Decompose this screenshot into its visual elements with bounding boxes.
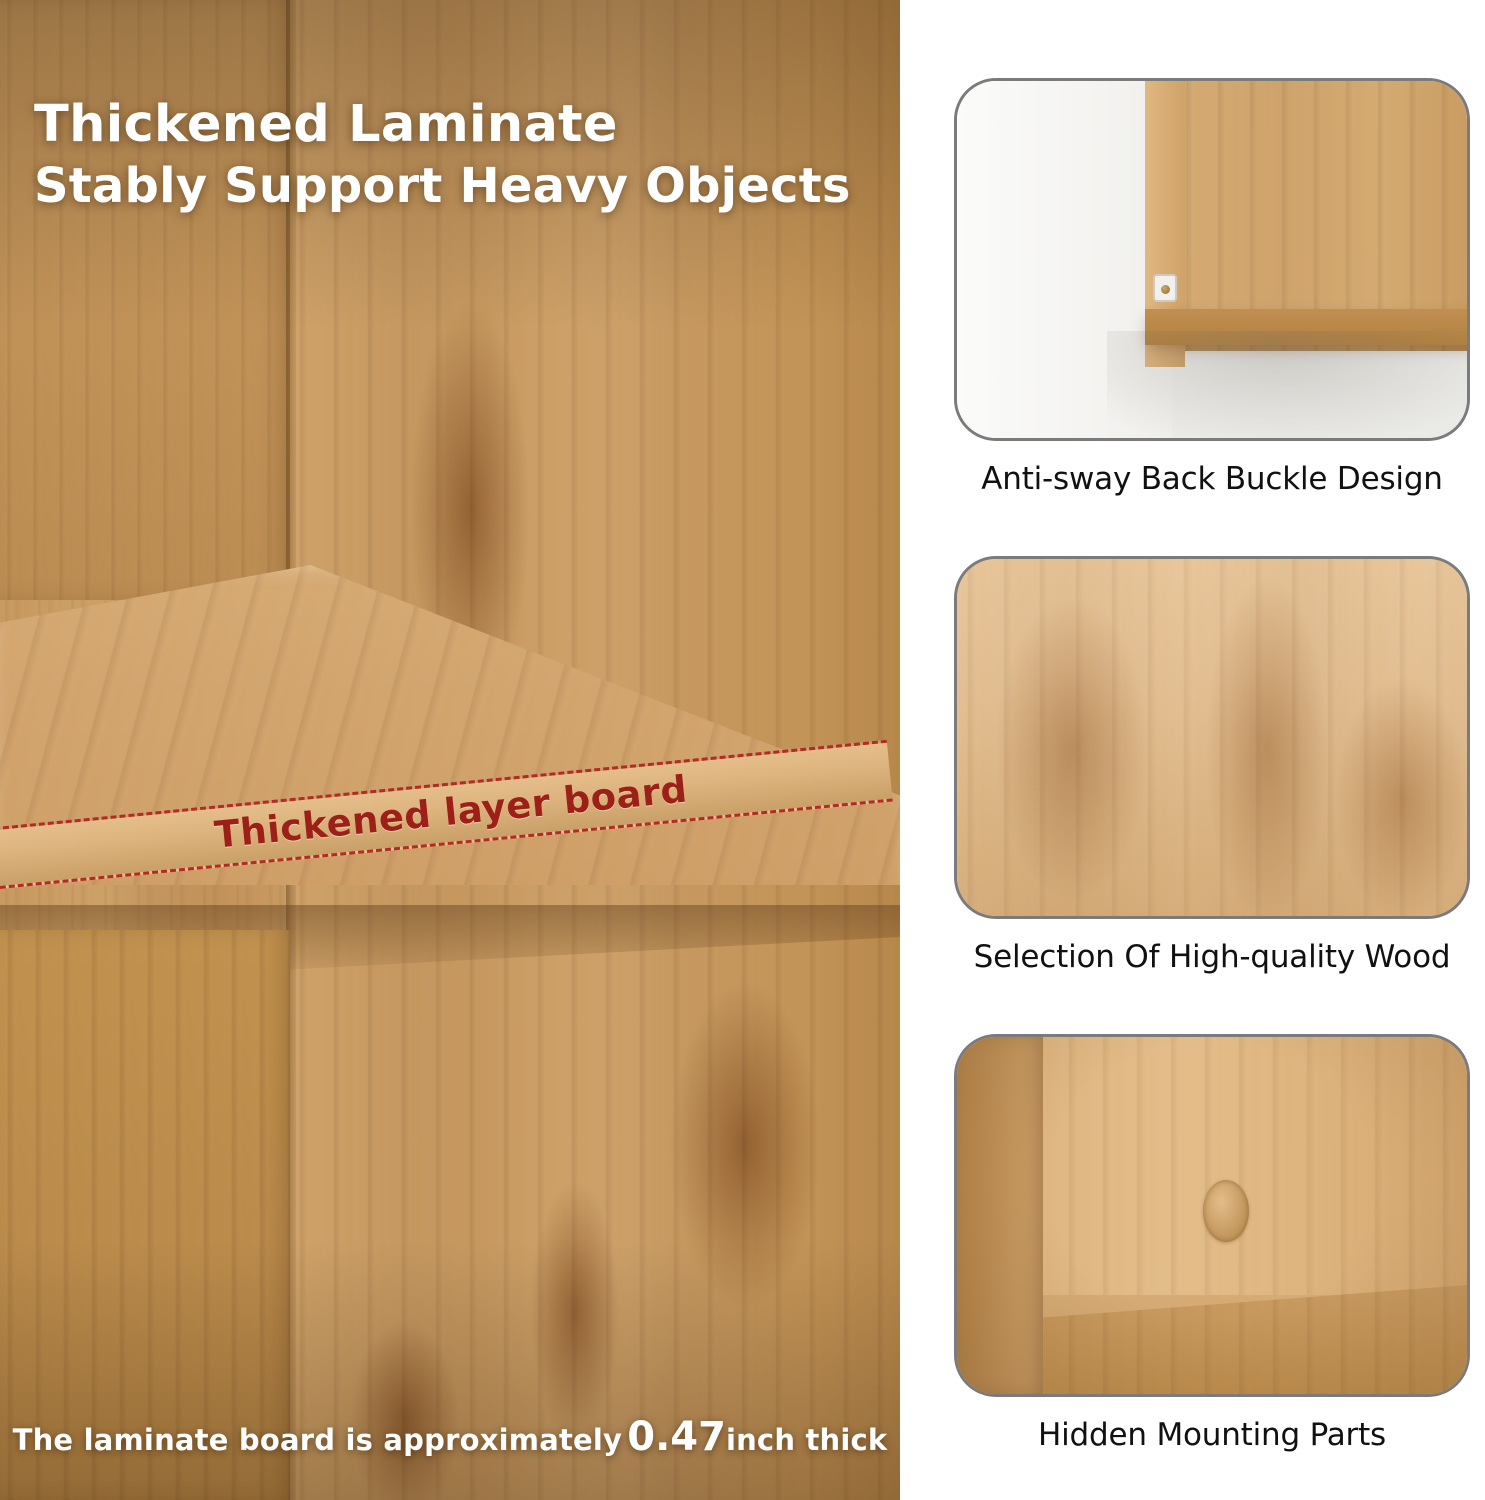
back-buckle-screw-icon	[1153, 274, 1177, 302]
feature-card-wood-quality: Selection Of High-quality Wood	[954, 556, 1470, 975]
product-feature-infographic: Thickened layer board Thickened Laminate…	[0, 0, 1485, 1500]
anti-sway-back-buckle-photo	[954, 78, 1470, 441]
feature-label-anti-sway: Anti-sway Back Buckle Design	[954, 461, 1470, 497]
hidden-mounting-parts-photo	[954, 1034, 1470, 1397]
page-title: Thickened Laminate Stably Support Heavy …	[34, 95, 874, 216]
hero-shelf-photo: Thickened layer board Thickened Laminate…	[0, 0, 900, 1500]
caption-text: The laminate board is approximately	[13, 1423, 623, 1457]
caption-value: 0.47	[627, 1414, 726, 1460]
high-quality-wood-photo	[954, 556, 1470, 919]
headline-line-2: Stably Support Heavy Objects	[34, 158, 874, 216]
feature-card-hidden-mounting: Hidden Mounting Parts	[954, 1034, 1470, 1453]
feature-label-hidden-mounting: Hidden Mounting Parts	[954, 1417, 1470, 1453]
thickness-caption: The laminate board is approximately 0.47…	[0, 1414, 900, 1460]
headline-line-1: Thickened Laminate	[34, 95, 874, 154]
caption-unit: inch thick	[726, 1423, 887, 1457]
feature-label-wood-quality: Selection Of High-quality Wood	[954, 939, 1470, 975]
feature-card-anti-sway: Anti-sway Back Buckle Design	[954, 78, 1470, 497]
feature-card-column: Anti-sway Back Buckle Design Selection O…	[900, 0, 1485, 1500]
cabinet-back-panel	[0, 0, 290, 600]
